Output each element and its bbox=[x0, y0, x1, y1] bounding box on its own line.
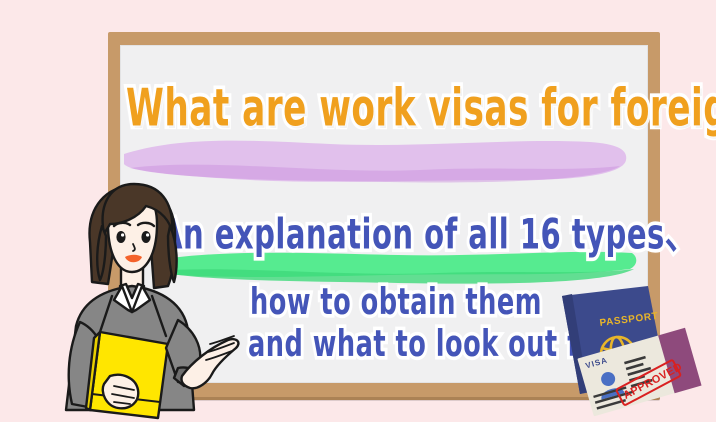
woman-presenter-illustration bbox=[42, 180, 252, 422]
passport-and-visa-illustration: PASSPORT VISA bbox=[556, 282, 706, 422]
banner-stage: What are work visas for foreigners? An e… bbox=[0, 0, 716, 422]
headline-line-1: What are work visas for foreigners? bbox=[126, 83, 716, 134]
headline-line-3: how to obtain them bbox=[250, 285, 542, 322]
